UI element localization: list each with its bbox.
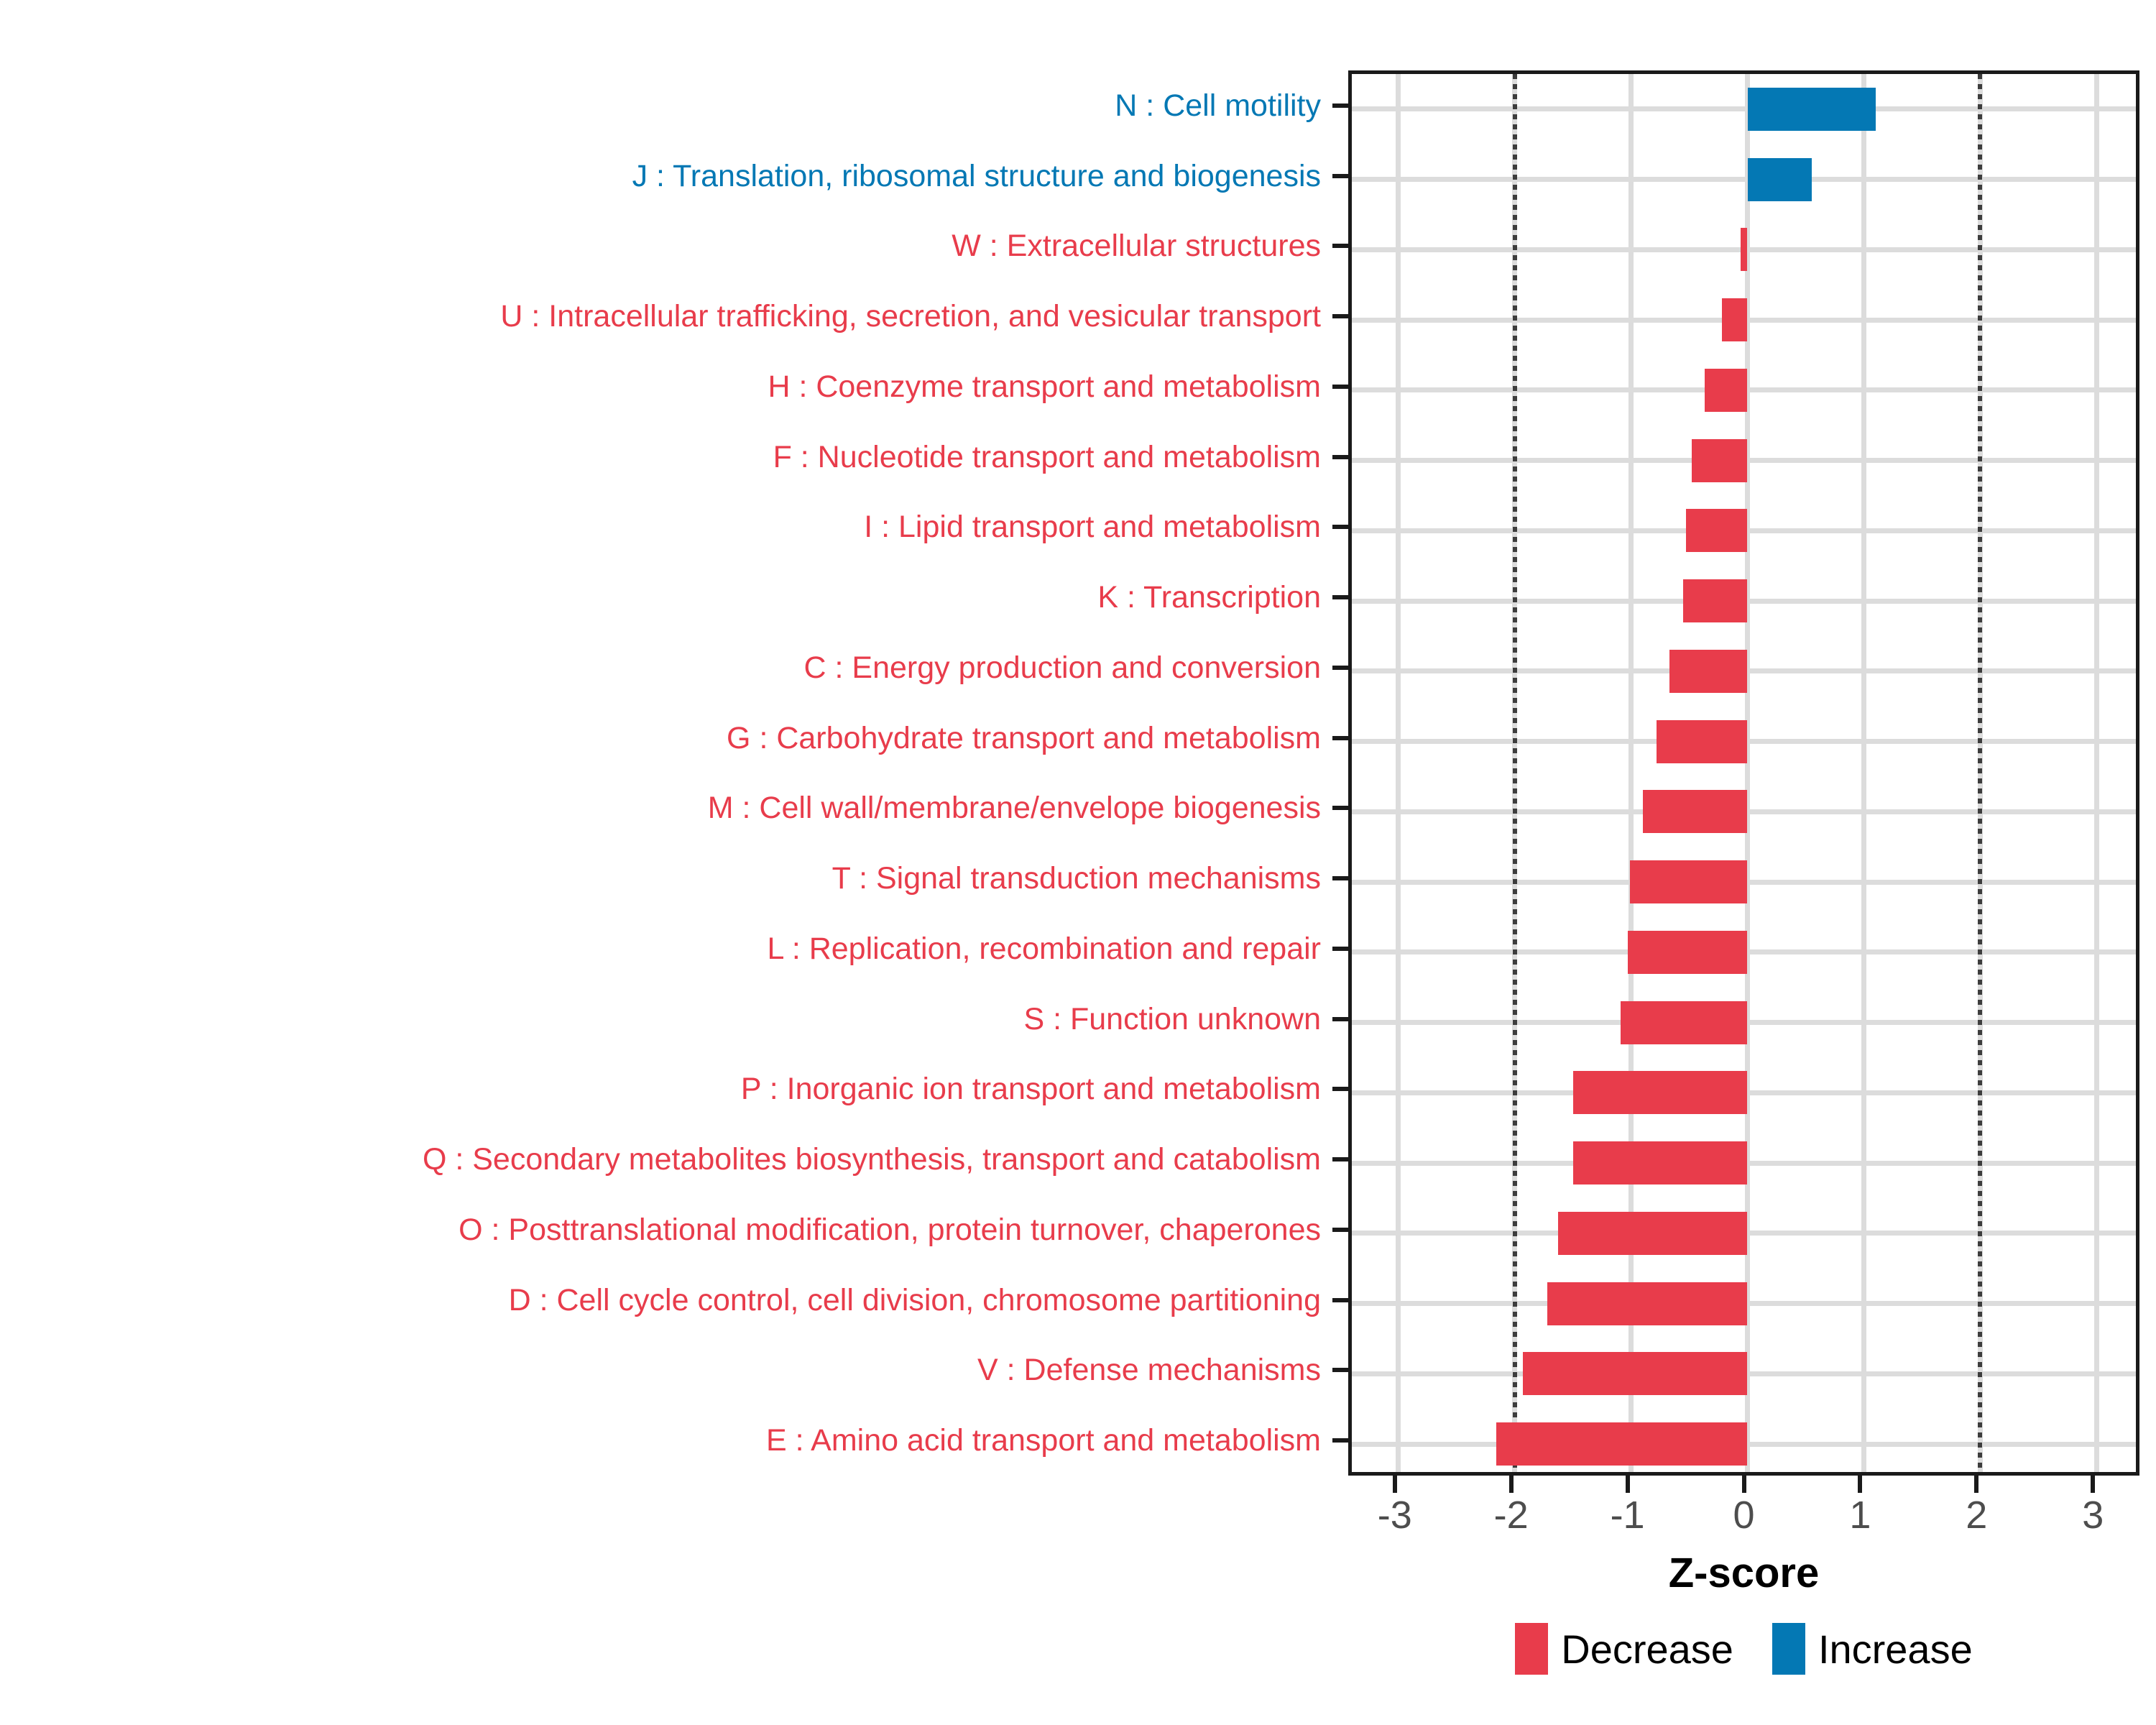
bar [1748, 158, 1812, 201]
gridline-vertical [1628, 74, 1634, 1472]
bar [1657, 720, 1747, 763]
y-axis-label: N : Cell motility [1115, 89, 1321, 122]
y-axis-label: M : Cell wall/membrane/envelope biogenes… [708, 791, 1321, 824]
y-axis-tick [1332, 876, 1348, 880]
gridline-horizontal [1352, 177, 2136, 182]
x-axis-tick-label: -1 [1611, 1493, 1645, 1537]
x-axis-tick-labels: -3-2-10123 [1348, 1493, 2139, 1543]
bar [1748, 88, 1876, 131]
plot-panel [1348, 70, 2139, 1476]
x-axis-tick [1742, 1476, 1746, 1493]
bar [1523, 1352, 1747, 1395]
y-axis-label: V : Defense mechanisms [977, 1353, 1321, 1386]
y-axis-label: W : Extracellular structures [952, 229, 1321, 262]
bar [1630, 860, 1748, 903]
x-axis-tick [1974, 1476, 1978, 1493]
legend-label: Increase [1818, 1626, 1973, 1673]
bar [1683, 579, 1747, 622]
y-axis-tick [1332, 1087, 1348, 1091]
plot-area [1352, 74, 2136, 1472]
x-axis-tick [2091, 1476, 2095, 1493]
bar [1741, 228, 1748, 271]
y-axis-label: S : Function unknown [1023, 1003, 1321, 1036]
y-axis-label: J : Translation, ribosomal structure and… [632, 160, 1321, 193]
x-axis-tick-label: 3 [2082, 1493, 2104, 1537]
x-axis-title: Z-score [1348, 1549, 2139, 1597]
y-axis-tick [1332, 1157, 1348, 1161]
bar [1558, 1212, 1748, 1255]
bar [1621, 1001, 1747, 1044]
y-axis-tick [1332, 736, 1348, 740]
y-axis-tick [1332, 103, 1348, 108]
y-axis-tick [1332, 1368, 1348, 1372]
bar [1705, 369, 1748, 412]
y-axis-label: T : Signal transduction mechanisms [832, 862, 1321, 895]
y-axis-label: O : Posttranslational modification, prot… [459, 1213, 1321, 1246]
y-axis-label: U : Intracellular trafficking, secretion… [500, 300, 1321, 333]
y-axis-label: I : Lipid transport and metabolism [864, 510, 1321, 543]
bar [1628, 931, 1748, 974]
y-axis-label: Q : Secondary metabolites biosynthesis, … [423, 1143, 1321, 1176]
y-axis-tick [1332, 1017, 1348, 1021]
y-axis-tick [1332, 1298, 1348, 1302]
x-axis-tick-label: 2 [1966, 1493, 1987, 1537]
bar [1722, 298, 1748, 341]
y-axis-tick [1332, 525, 1348, 529]
y-axis-label: C : Energy production and conversion [804, 651, 1321, 684]
x-axis-tick-label: -3 [1378, 1493, 1412, 1537]
bar [1643, 790, 1748, 833]
bar [1573, 1071, 1748, 1114]
bar [1686, 509, 1748, 552]
bar [1573, 1141, 1748, 1184]
y-axis-label: F : Nucleotide transport and metabolism [773, 441, 1321, 474]
y-axis-labels: N : Cell motilityJ : Translation, riboso… [0, 70, 1321, 1476]
y-axis-tick [1332, 947, 1348, 951]
x-axis-tick-label: -2 [1494, 1493, 1529, 1537]
chart-root: N : Cell motilityJ : Translation, riboso… [0, 0, 2156, 1725]
legend-item[interactable]: Decrease [1515, 1623, 1733, 1675]
y-axis-label: D : Cell cycle control, cell division, c… [509, 1284, 1321, 1317]
gridline-vertical [2094, 74, 2099, 1472]
y-axis-label: H : Coenzyme transport and metabolism [768, 370, 1321, 403]
x-axis-tick [1858, 1476, 1862, 1493]
x-axis-tick [1626, 1476, 1630, 1493]
legend-swatch-icon [1772, 1623, 1805, 1675]
y-axis-tick [1332, 455, 1348, 459]
x-axis-tick [1393, 1476, 1397, 1493]
gridline-vertical [1745, 74, 1750, 1472]
bar [1669, 650, 1747, 693]
y-axis-label: P : Inorganic ion transport and metaboli… [741, 1072, 1321, 1105]
y-axis-label: L : Replication, recombination and repai… [768, 932, 1321, 965]
x-axis-tick-label: 0 [1733, 1493, 1754, 1537]
y-axis-ticks [1321, 70, 1348, 1476]
y-axis-label: G : Carbohydrate transport and metabolis… [727, 722, 1321, 755]
y-axis-label: E : Amino acid transport and metabolism [766, 1424, 1321, 1457]
y-axis-tick [1332, 666, 1348, 670]
x-axis-tick-label: 1 [1849, 1493, 1871, 1537]
chart-legend: DecreaseIncrease [1348, 1623, 2139, 1675]
y-axis-tick [1332, 244, 1348, 248]
gridline-horizontal [1352, 106, 2136, 111]
bar [1496, 1422, 1748, 1466]
x-axis-tick [1509, 1476, 1514, 1493]
y-axis-tick [1332, 385, 1348, 389]
x-axis-ticks [1348, 1476, 2139, 1493]
legend-item[interactable]: Increase [1772, 1623, 1973, 1675]
y-axis-tick [1332, 806, 1348, 810]
y-axis-tick [1332, 1228, 1348, 1232]
bar [1547, 1282, 1747, 1325]
gridline-vertical [1861, 74, 1866, 1472]
y-axis-tick [1332, 1438, 1348, 1443]
legend-swatch-icon [1515, 1623, 1548, 1675]
bar [1692, 439, 1748, 482]
y-axis-label: K : Transcription [1097, 581, 1321, 614]
y-axis-tick [1332, 595, 1348, 599]
y-axis-tick [1332, 314, 1348, 318]
legend-label: Decrease [1561, 1626, 1733, 1673]
reference-line [1513, 74, 1517, 1472]
gridline-vertical [1396, 74, 1401, 1472]
y-axis-tick [1332, 174, 1348, 178]
reference-line [1978, 74, 1982, 1472]
